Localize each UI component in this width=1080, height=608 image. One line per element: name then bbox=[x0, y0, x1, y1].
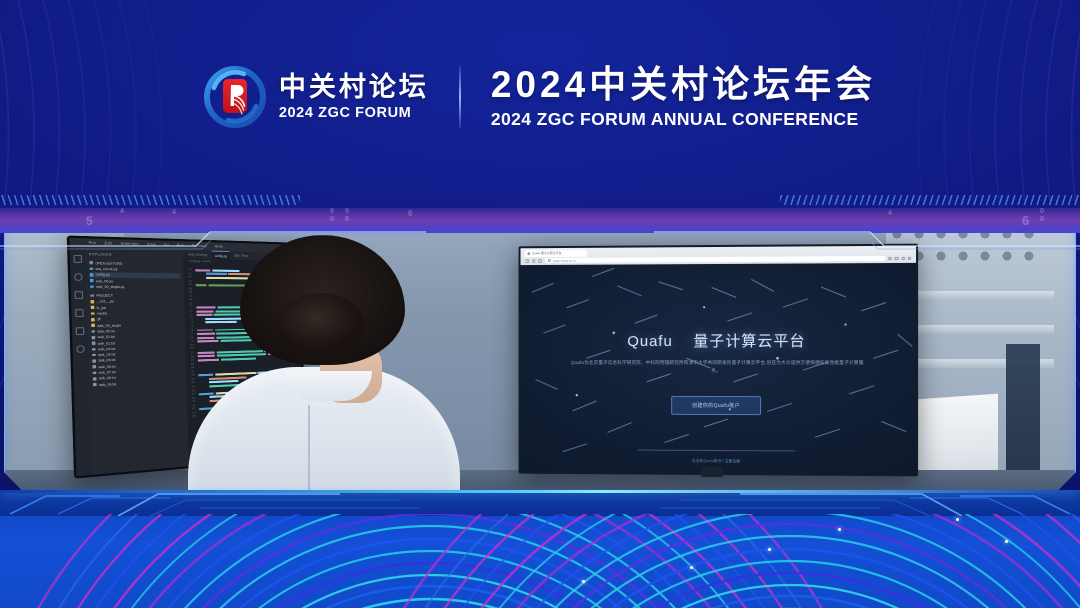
search-icon[interactable] bbox=[74, 273, 83, 281]
explorer-item-label: task_01.txt bbox=[97, 335, 115, 340]
profile-icon[interactable] bbox=[901, 257, 904, 260]
band-top-edge bbox=[0, 205, 1080, 208]
band-digit: 0 bbox=[330, 216, 334, 223]
sparkle-dot bbox=[690, 566, 693, 569]
explorer-item-label: task_00_single bbox=[97, 323, 121, 328]
explorer-item-label: results bbox=[96, 311, 107, 316]
explorer-item-label: qft bbox=[97, 317, 101, 322]
hair-bun bbox=[278, 293, 364, 355]
debug-icon[interactable] bbox=[75, 309, 84, 317]
band-digit: 6 bbox=[408, 209, 412, 218]
lab-coat-seam bbox=[308, 405, 310, 494]
files-icon[interactable] bbox=[73, 255, 82, 263]
explorer-item-label: task_07.txt bbox=[98, 370, 116, 375]
radiating-arc-pattern bbox=[0, 514, 1080, 608]
sparkle-dot bbox=[838, 528, 841, 531]
url-input[interactable]: quafu.baqis.ac.cn bbox=[544, 256, 885, 263]
sparkle-dot bbox=[1005, 540, 1008, 543]
explorer-item-label: task_06.txt bbox=[98, 364, 116, 369]
quafu-page-description: Quafu为北京量子信息科学研究院、中科院物理研究所和清华大学共同研发的量子计算… bbox=[567, 359, 868, 375]
quafu-landing-page: Quafu 量子计算云平台 Quafu为北京量子信息科学研究院、中科院物理研究所… bbox=[521, 263, 917, 474]
browser-tab[interactable]: Quafu 量子计算云平台 bbox=[524, 249, 587, 257]
explorer-title: EXPLORER bbox=[89, 252, 180, 258]
extensions-icon[interactable] bbox=[895, 257, 898, 260]
ide-file-explorer[interactable]: EXPLORER OPEN EDITORS seq_circuit.py con… bbox=[85, 247, 189, 475]
video-player-frame[interactable]: File Edit Selection View Go Run Terminal… bbox=[4, 205, 1076, 494]
presentation-stage: 中关村论坛 2024 ZGC FORUM 2024中关村论坛年会 2024 ZG… bbox=[0, 0, 1080, 608]
sparkle-dot bbox=[582, 580, 585, 583]
menu-item-view[interactable]: View bbox=[147, 242, 156, 247]
menu-icon[interactable] bbox=[908, 257, 911, 260]
band-digit: 5 bbox=[86, 214, 93, 228]
monitor-stand bbox=[701, 467, 723, 477]
explorer-item-label: task_00.py bbox=[95, 278, 113, 283]
register-link[interactable]: 立即注册 bbox=[725, 459, 740, 463]
menu-item-go[interactable]: Go bbox=[164, 243, 170, 247]
quafu-footer-text: 还没有Quafu账号? bbox=[692, 459, 724, 463]
explorer-item-label: task_00.txt bbox=[97, 329, 115, 334]
url-text: quafu.baqis.ac.cn bbox=[553, 259, 576, 263]
explorer-item-label: task_08.txt bbox=[98, 376, 116, 381]
extensions-icon[interactable] bbox=[76, 327, 85, 335]
reload-icon[interactable] bbox=[538, 259, 541, 262]
lock-icon bbox=[547, 259, 550, 262]
chevron-lines-left bbox=[0, 490, 420, 516]
source-control-icon[interactable] bbox=[75, 291, 84, 299]
list-item[interactable]: task_00_single.py bbox=[90, 284, 181, 290]
explorer-item-label: config.py bbox=[95, 272, 110, 277]
band-digit: 9 bbox=[345, 208, 349, 215]
decorative-bottom-band bbox=[0, 490, 1080, 608]
explorer-item-label: task_09.txt bbox=[98, 381, 116, 386]
explorer-item-label: __init__.py bbox=[96, 299, 114, 303]
explorer-item-label: fit_job bbox=[96, 305, 106, 310]
band-digit: 0 bbox=[1040, 208, 1044, 215]
menu-item-selection[interactable]: Selection bbox=[121, 242, 139, 247]
browser-tab-title: Quafu 量子计算云平台 bbox=[532, 251, 561, 255]
explorer-item-label: task_00_single.py bbox=[96, 284, 125, 289]
logo-english-name: 2024 ZGC FORUM bbox=[279, 106, 429, 121]
band-digit: 4 bbox=[888, 210, 892, 217]
right-monitor-quafu-browser[interactable]: Quafu 量子计算云平台 quafu.baqis.ac.cn bbox=[519, 244, 919, 477]
account-icon[interactable] bbox=[76, 345, 85, 353]
band-digit: 0 bbox=[1040, 216, 1044, 223]
create-account-button[interactable]: 创建你的Quafu账户 bbox=[671, 396, 761, 415]
header-divider bbox=[459, 66, 461, 128]
sparkle-dot bbox=[956, 518, 959, 521]
band-digit: 6 bbox=[1022, 213, 1029, 228]
forward-icon[interactable] bbox=[532, 259, 535, 262]
video-scene: File Edit Selection View Go Run Terminal… bbox=[4, 205, 1076, 494]
back-icon[interactable] bbox=[525, 259, 528, 262]
quafu-title-cn: 量子计算云平台 bbox=[693, 333, 805, 350]
explorer-item-label: task_05.txt bbox=[98, 358, 116, 363]
band-digit: 4 bbox=[172, 209, 176, 216]
decorative-purple-band: 5 4 4 9 9 0 0 6 4 6 0 0 bbox=[0, 205, 1080, 233]
quafu-page-title: Quafu 量子计算云平台 bbox=[521, 330, 917, 351]
band-digit-texture: 5 4 4 9 9 0 0 6 4 6 0 0 bbox=[0, 205, 1080, 233]
explorer-item-label: task_04.txt bbox=[98, 352, 116, 357]
chevron-lines-right bbox=[660, 490, 1080, 516]
band-digit: 4 bbox=[120, 208, 124, 215]
researcher-person bbox=[182, 235, 462, 494]
page-subtitle: 2024 ZGC FORUM ANNUAL CONFERENCE bbox=[491, 111, 876, 129]
zgc-forum-logo: 中关村论坛 2024 ZGC FORUM bbox=[204, 66, 429, 128]
explorer-item-label: task_02.txt bbox=[97, 340, 115, 345]
browser-chrome[interactable]: Quafu 量子计算云平台 quafu.baqis.ac.cn bbox=[521, 246, 917, 265]
menu-item-edit[interactable]: Edit bbox=[105, 241, 113, 246]
band-digit: 0 bbox=[345, 216, 349, 223]
bookmark-icon[interactable] bbox=[889, 257, 892, 260]
conference-header: 中关村论坛 2024 ZGC FORUM 2024中关村论坛年会 2024 ZG… bbox=[0, 0, 1080, 200]
sparkle-dot bbox=[768, 548, 771, 551]
page-title: 2024中关村论坛年会 bbox=[491, 66, 876, 103]
logo-chinese-name: 中关村论坛 bbox=[279, 74, 429, 101]
explorer-item-label: seq_circuit.py bbox=[95, 266, 117, 271]
explorer-item-label: task_03.txt bbox=[97, 346, 115, 351]
explorer-section-label: OPEN EDITORS bbox=[95, 261, 123, 266]
favicon-icon bbox=[527, 252, 530, 255]
menu-item-file[interactable]: File bbox=[89, 241, 97, 246]
zgc-phoenix-logo-icon bbox=[204, 66, 266, 128]
explorer-section-label: PROJECT bbox=[96, 294, 113, 298]
quafu-title-en: Quafu bbox=[627, 333, 672, 350]
band-digit: 9 bbox=[330, 208, 334, 215]
